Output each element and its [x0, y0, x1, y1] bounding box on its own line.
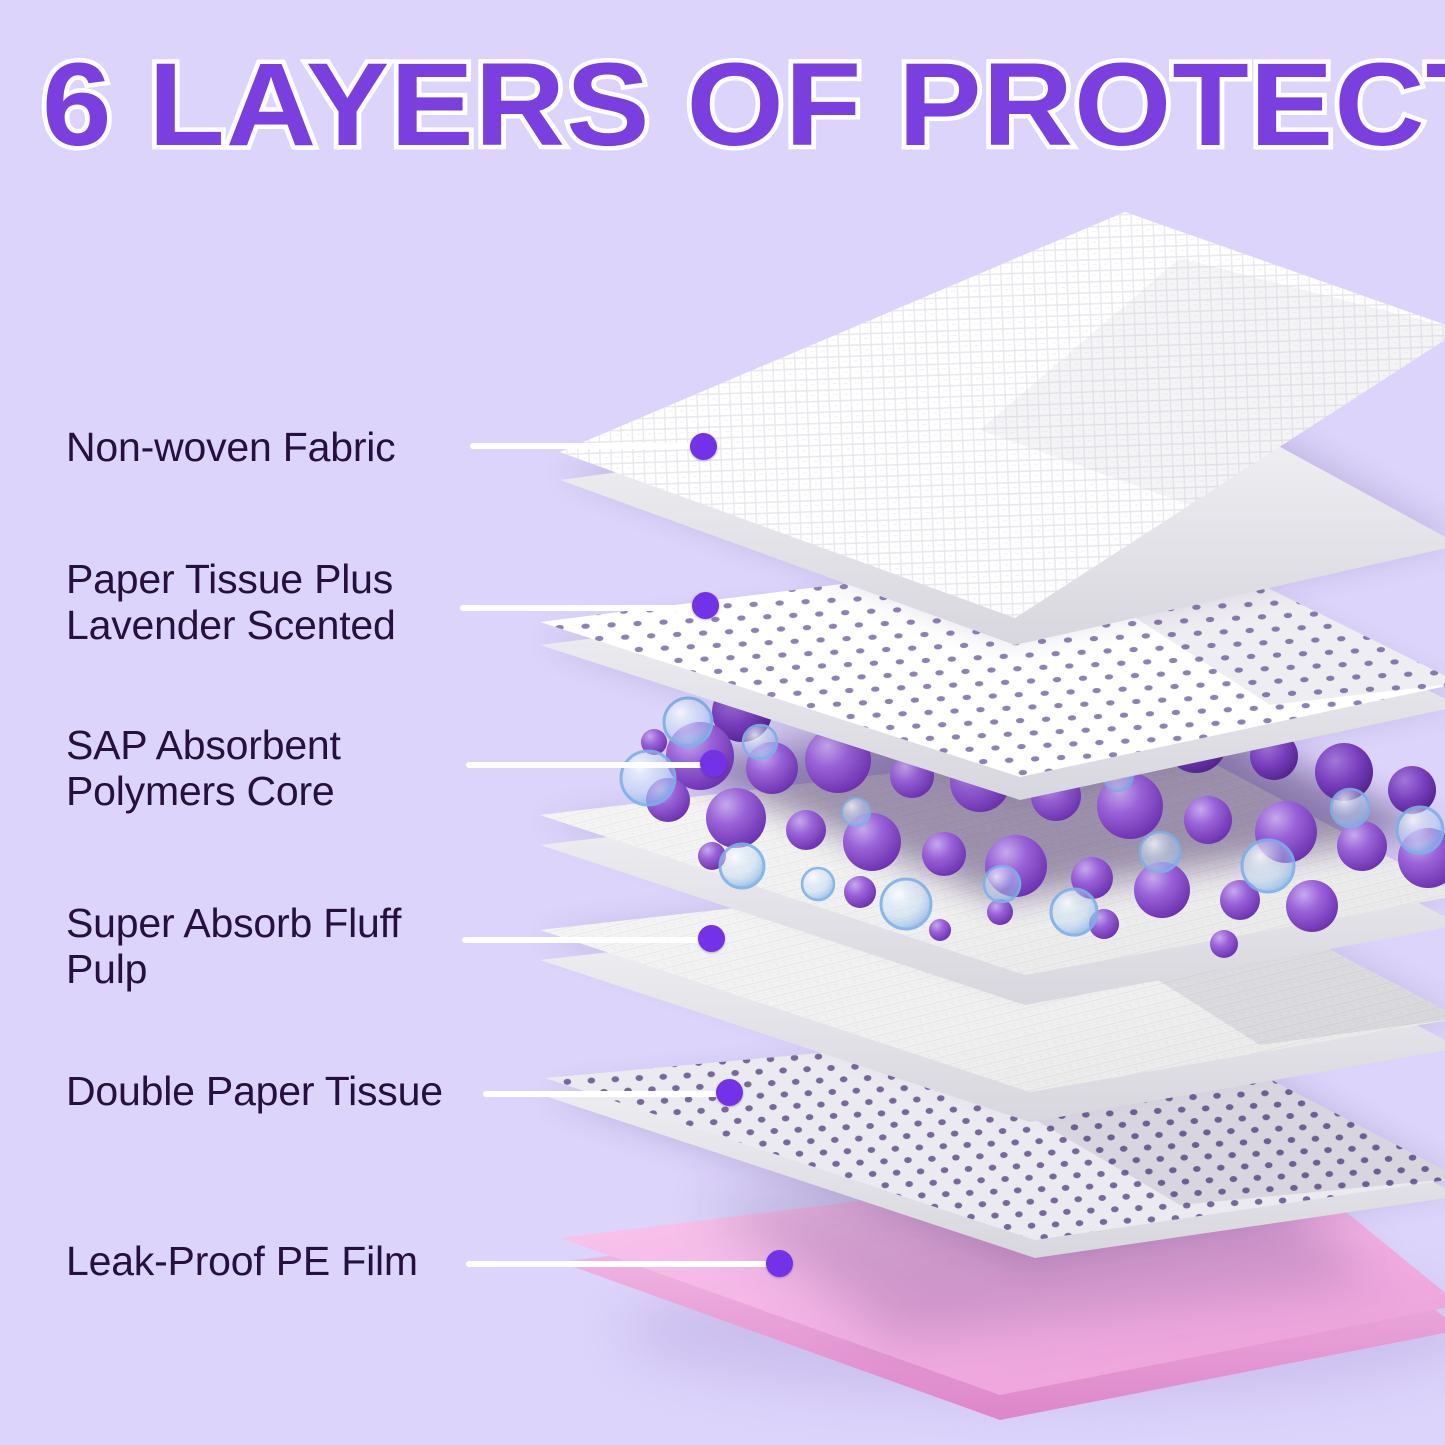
layer-label-paper-tissue-lavender: Paper Tissue Plus Lavender Scented [66, 556, 396, 648]
callout-dot-6[interactable] [766, 1250, 793, 1277]
layer-label-non-woven-fabric: Non-woven Fabric [66, 424, 396, 470]
callout-dot-3[interactable] [700, 750, 727, 777]
callout-dot-1[interactable] [690, 433, 717, 460]
leader-line-5 [483, 1091, 733, 1097]
callout-dot-2[interactable] [692, 592, 719, 619]
page-title: 6 LAYERS OF PROTECTION [42, 46, 1445, 164]
leader-line-4 [462, 937, 714, 943]
title-block: 6 LAYERS OF PROTECTION [0, 46, 1445, 176]
layer-label-leak-proof-pe-film: Leak-Proof PE Film [66, 1238, 418, 1284]
infographic-canvas: 6 LAYERS OF PROTECTION Non-woven Fabric … [0, 0, 1445, 1445]
leader-line-1 [470, 443, 702, 449]
layer-label-super-absorb-fluff-pulp: Super Absorb Fluff Pulp [66, 900, 401, 992]
callout-dot-5[interactable] [716, 1079, 743, 1106]
leader-line-2 [460, 605, 708, 611]
layer-label-sap-absorbent-core: SAP Absorbent Polymers Core [66, 722, 341, 814]
leader-line-6 [466, 1261, 786, 1267]
leader-line-3 [466, 762, 716, 768]
layer-1-non-woven-fabric [560, 212, 1445, 645]
callout-dot-4[interactable] [698, 925, 725, 952]
layer-label-double-paper-tissue: Double Paper Tissue [66, 1068, 443, 1114]
